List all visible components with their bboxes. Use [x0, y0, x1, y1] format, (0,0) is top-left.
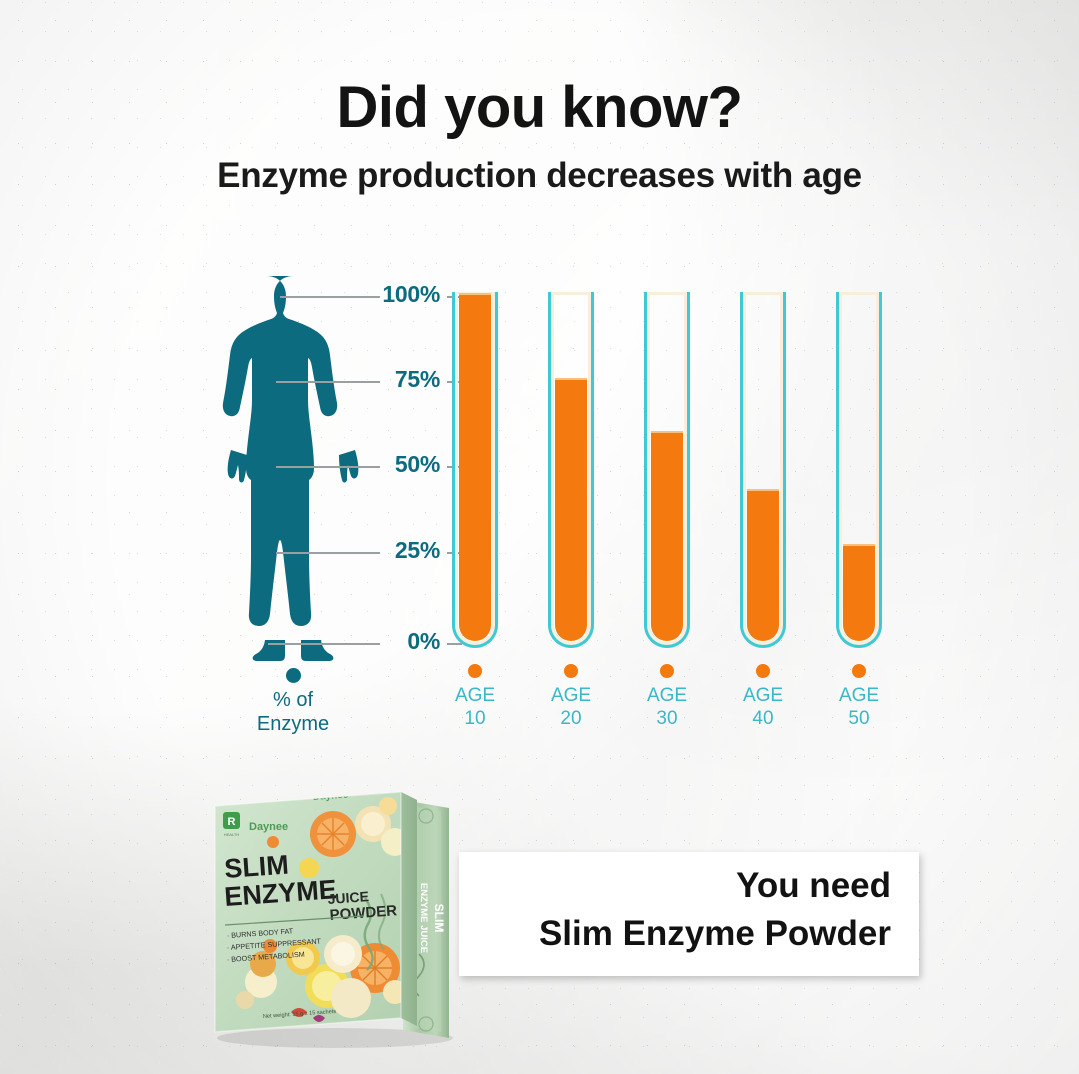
orange-dot-icon	[660, 664, 674, 678]
age-value: 30	[632, 708, 702, 731]
age-label: AGE	[824, 685, 894, 708]
tick-line	[280, 296, 380, 298]
legend-label-line1: % of	[218, 689, 368, 713]
sachet-name-line2: ENZYME JUICE	[418, 883, 429, 953]
tube-age-30[interactable]: AGE 30	[644, 292, 690, 648]
orange-dot-icon	[756, 664, 770, 678]
orange-dot-icon	[564, 664, 578, 678]
axis-tick-0: 0%	[218, 643, 438, 645]
callout-line1: You need	[736, 866, 891, 906]
tube-age-10[interactable]: AGE 10	[452, 292, 498, 648]
svg-text:R: R	[228, 816, 236, 828]
tube-label-age-10: AGE 10	[440, 664, 510, 731]
teal-dot-icon	[286, 668, 301, 683]
callout-line2: Slim Enzyme Powder	[539, 914, 891, 954]
tube-glass	[452, 292, 498, 648]
product-package-image: SLIM ENZYME JUICE	[205, 786, 475, 1048]
tube-glass	[548, 292, 594, 648]
age-label: AGE	[440, 685, 510, 708]
orange-dot-icon	[852, 664, 866, 678]
age-value: 40	[728, 708, 798, 731]
axis-tick-100: 100%	[218, 296, 438, 298]
axis-tick-label: 50%	[374, 451, 440, 478]
tube-fill	[747, 489, 779, 641]
axis-tick-label: 25%	[374, 537, 440, 564]
product-brand: Daynee	[249, 821, 288, 833]
sachet-name-line1: SLIM	[432, 904, 446, 933]
chart-legend: % of Enzyme	[218, 668, 368, 736]
age-label: AGE	[728, 685, 798, 708]
tube-label-age-50: AGE 50	[824, 664, 894, 731]
axis-tick-label: 0%	[374, 628, 440, 655]
tube-age-20[interactable]: AGE 20	[548, 292, 594, 648]
tube-age-40[interactable]: AGE 40	[740, 292, 786, 648]
age-value: 10	[440, 708, 510, 731]
axis-tick-label: 100%	[374, 281, 440, 308]
age-label: AGE	[536, 685, 606, 708]
enzyme-chart: 100% 75% 50% 25% 0% % of Enzyme AGE 10	[0, 0, 1079, 760]
tube-age-50[interactable]: AGE 50	[836, 292, 882, 648]
tick-line	[276, 381, 380, 383]
age-value: 20	[536, 708, 606, 731]
tick-line	[276, 466, 380, 468]
svg-text:HEALTH: HEALTH	[224, 832, 240, 837]
tube-glass	[644, 292, 690, 648]
age-value: 50	[824, 708, 894, 731]
tube-fill	[459, 293, 491, 641]
axis-tick-label: 75%	[374, 366, 440, 393]
tube-fill	[843, 544, 875, 641]
axis-tick-25: 25%	[218, 552, 438, 554]
orange-dot-icon	[468, 664, 482, 678]
tick-line	[276, 552, 380, 554]
callout-banner: You need Slim Enzyme Powder	[459, 852, 919, 976]
tube-glass	[740, 292, 786, 648]
tube-fill	[651, 431, 683, 641]
legend-label-line2: Enzyme	[218, 713, 368, 737]
tube-glass	[836, 292, 882, 648]
tick-line	[268, 643, 380, 645]
axis-tick-50: 50%	[218, 466, 438, 468]
age-label: AGE	[632, 685, 702, 708]
axis-tick-75: 75%	[218, 381, 438, 383]
tube-label-age-30: AGE 30	[632, 664, 702, 731]
tube-label-age-40: AGE 40	[728, 664, 798, 731]
tube-label-age-20: AGE 20	[536, 664, 606, 731]
tube-fill	[555, 378, 587, 641]
